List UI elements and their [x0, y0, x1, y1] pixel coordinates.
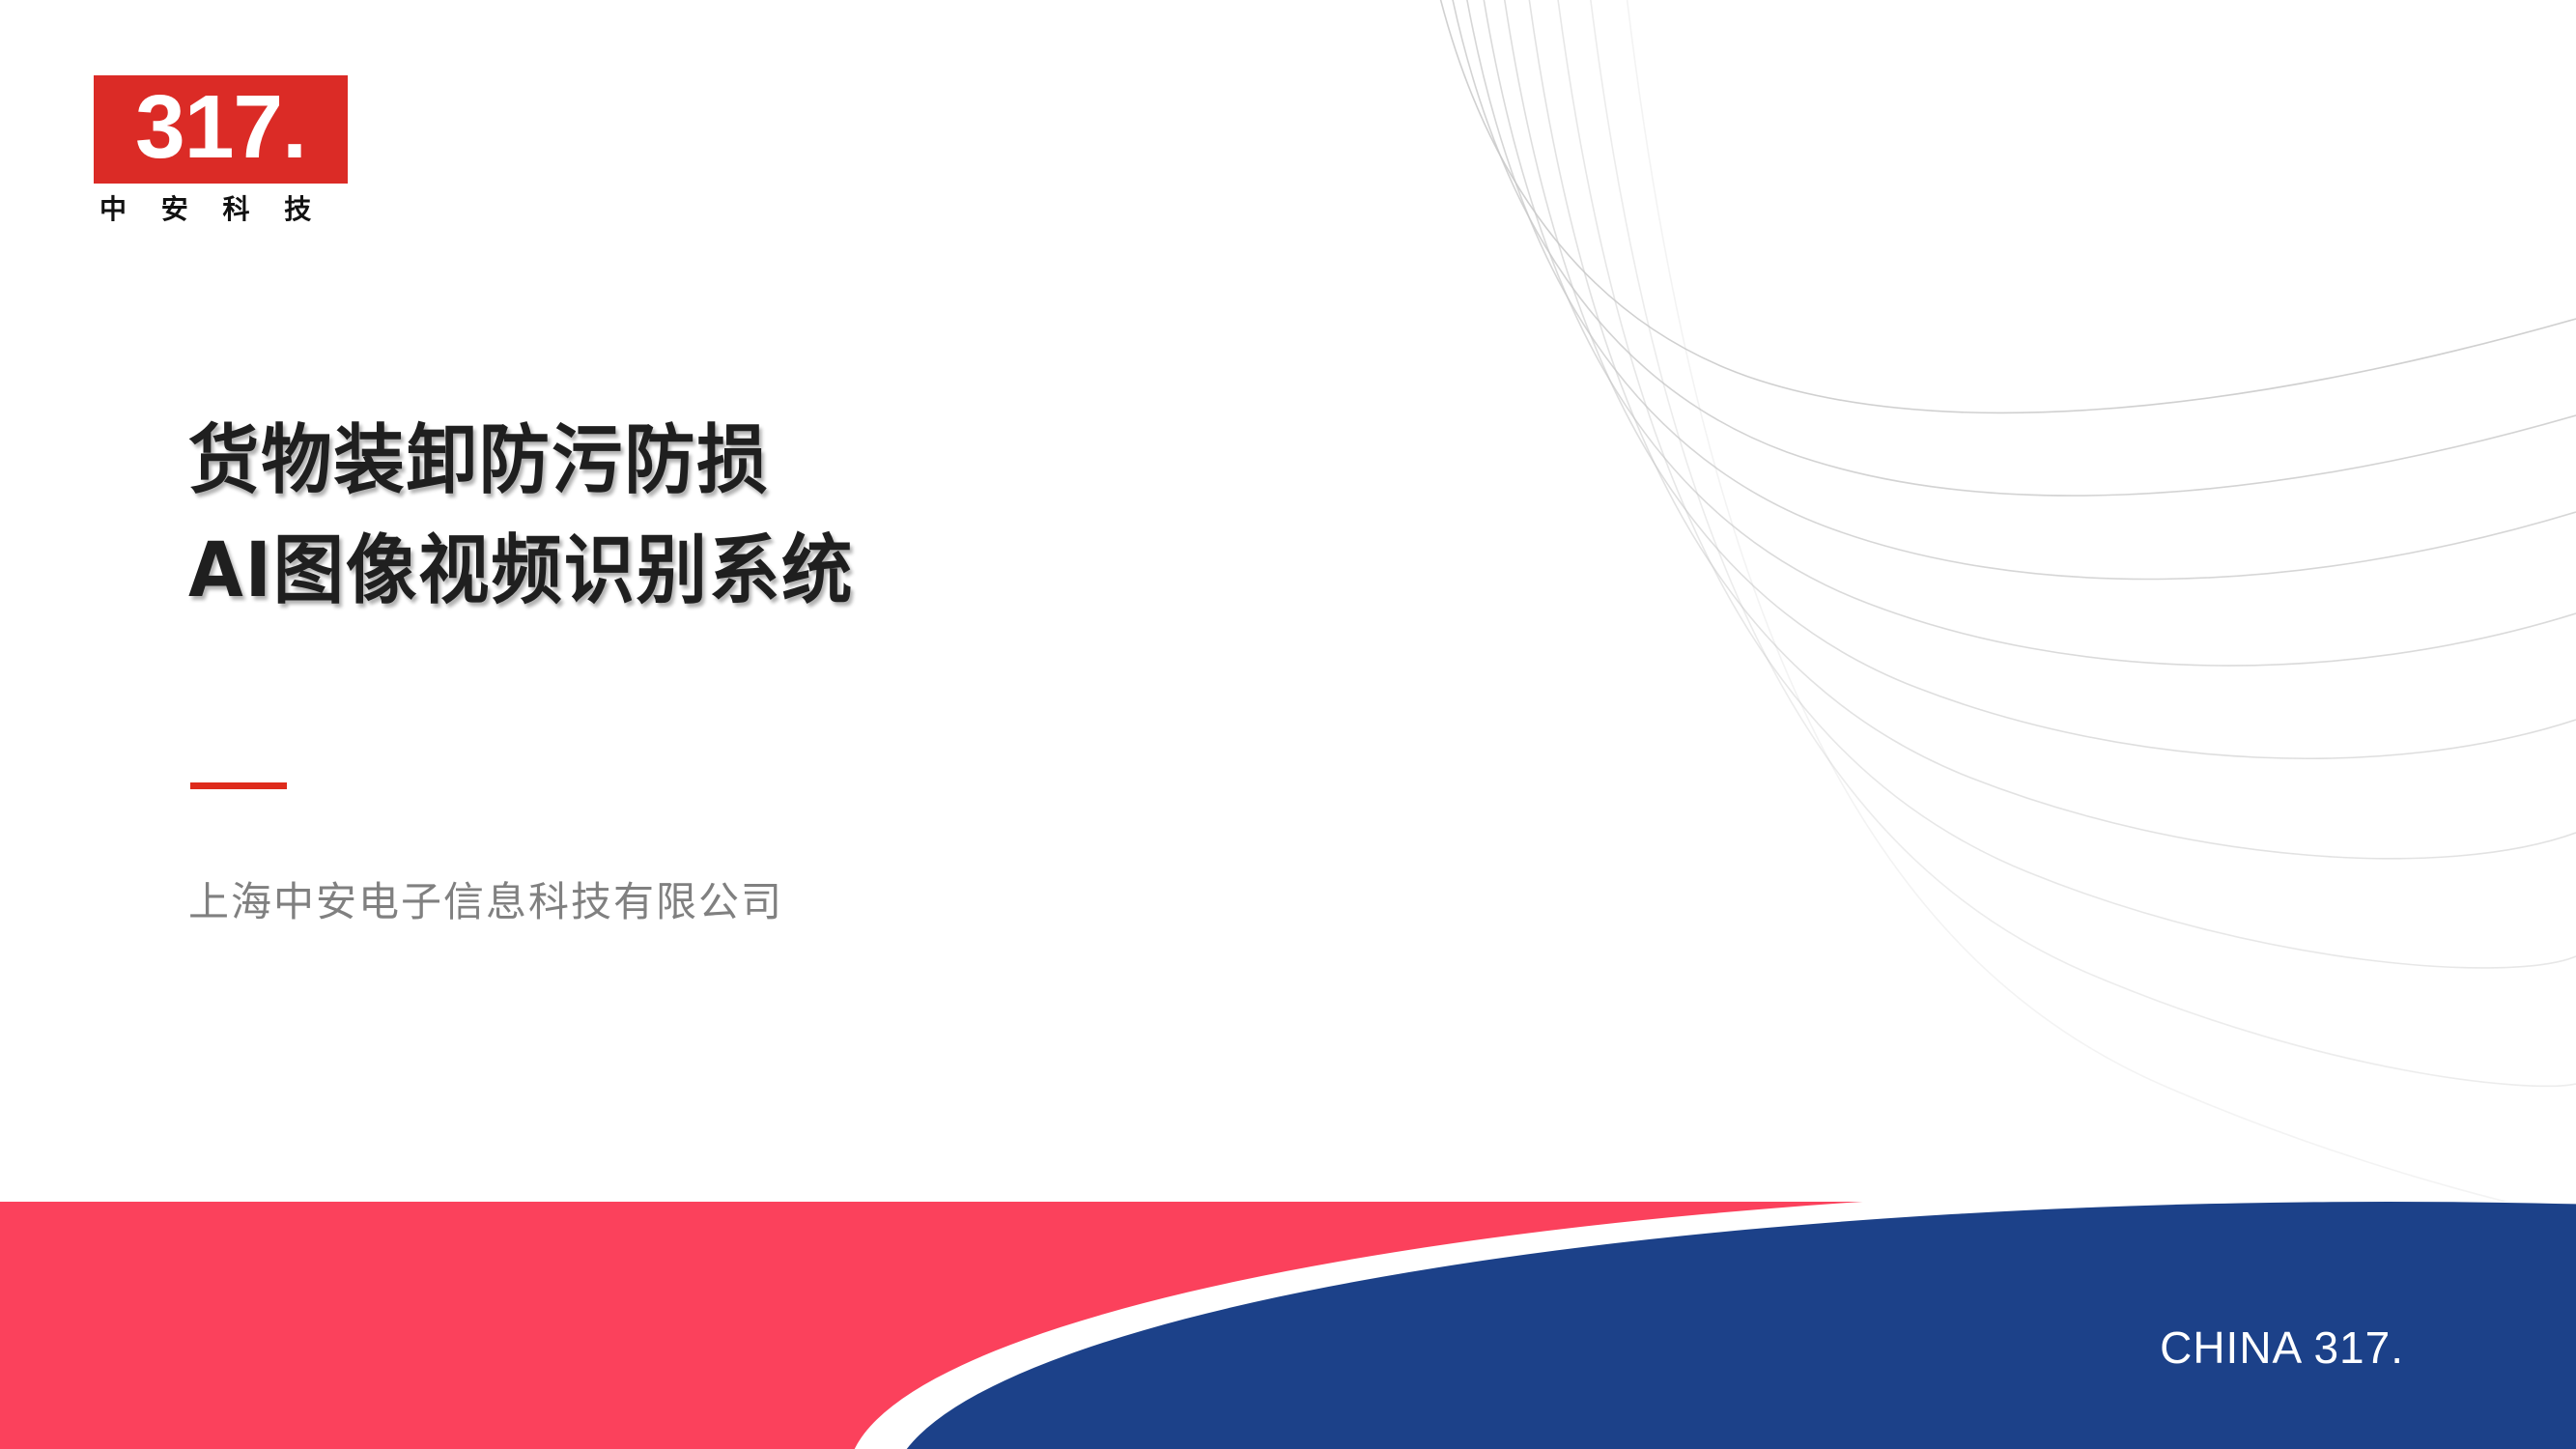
footer-banner: CHINA 317. — [0, 1202, 2576, 1449]
title-accent-rule — [190, 782, 287, 789]
logo-company-short-label: 中 安 科 技 — [94, 196, 355, 223]
company-logo: 317. 中 安 科 技 — [94, 75, 359, 223]
company-name-subtitle: 上海中安电子信息科技有限公司 — [188, 871, 783, 933]
page-title-line-2: AI图像视频识别系统 — [188, 516, 854, 626]
logo-mark-label: 317. — [135, 82, 306, 172]
footer-brand-label: CHINA 317. — [2160, 1325, 2404, 1370]
page-title: 货物装卸防污防损 AI图像视频识别系统 — [188, 406, 896, 626]
logo-mark-317: 317. — [94, 75, 348, 184]
page-title-line-1: 货物装卸防污防损 — [188, 406, 854, 516]
title-slide: 317. 中 安 科 技 货物装卸防污防损 AI图像视频识别系统 上海中安电子信… — [0, 0, 2576, 1449]
